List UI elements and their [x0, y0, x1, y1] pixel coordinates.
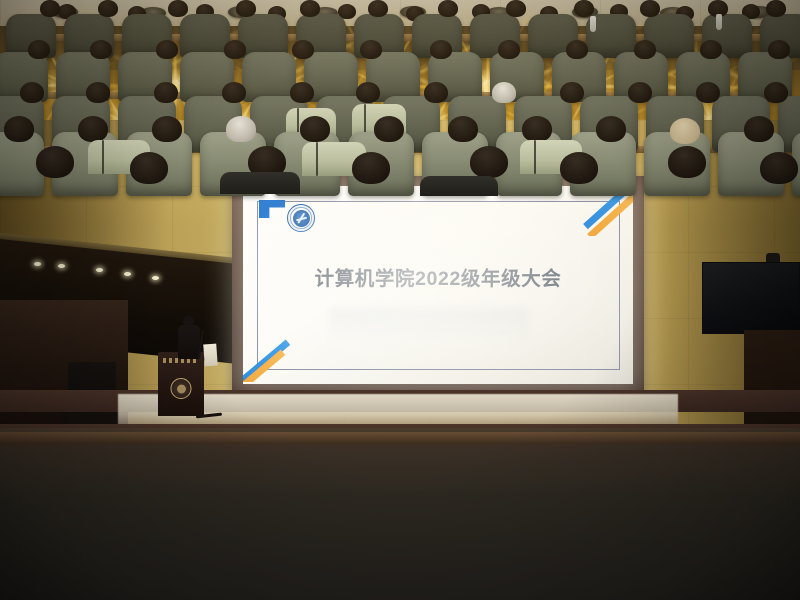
presenter-notes — [203, 344, 218, 367]
audience-member-head — [226, 116, 256, 142]
audience-member-head — [640, 0, 660, 17]
audience-member-head — [360, 40, 382, 59]
audience-member-head — [352, 152, 390, 184]
audience-member-head — [368, 0, 388, 17]
slide-light-artifact — [329, 308, 529, 342]
audience-member-head — [492, 82, 516, 103]
audience-member-head — [522, 116, 552, 142]
audience-member-head — [498, 40, 520, 59]
projected-slide: 计算机学院2022级年级大会 — [243, 186, 633, 384]
right-wall-shadow — [744, 330, 800, 438]
audience-member-head — [356, 82, 380, 103]
audience-member-head — [236, 0, 256, 17]
audience-member-head — [152, 116, 182, 142]
university-seal-logo-icon — [287, 204, 315, 232]
audience-member-head — [430, 40, 452, 59]
audience-member-head — [506, 0, 526, 17]
overhang-downlight-icon — [96, 268, 103, 272]
overhang-downlight-icon — [152, 276, 159, 280]
uniform-stripe — [102, 140, 104, 174]
audience-house — [0, 428, 800, 600]
audience-member-head — [130, 152, 168, 184]
seal-emblem — [293, 210, 310, 227]
audience-member-head — [628, 82, 652, 103]
audience-member-head — [566, 40, 588, 59]
audience-member-head — [560, 152, 598, 184]
lectern — [158, 352, 204, 416]
uniform-stripe — [316, 142, 318, 176]
presenter-body — [178, 325, 200, 359]
audience-member-head — [36, 146, 74, 178]
audience-member-head — [28, 40, 50, 59]
audience-member-head — [596, 116, 626, 142]
audience-member-head — [168, 0, 188, 17]
audience-member-head — [438, 0, 458, 17]
audience-member-head — [696, 82, 720, 103]
audience-member-torso — [420, 176, 498, 196]
diagonal-stripes-bottom-left-icon — [243, 336, 301, 382]
audience-member-head — [90, 40, 112, 59]
audience-member-torso — [220, 172, 300, 194]
audience-member-head — [300, 116, 330, 142]
audience-member-head — [300, 0, 320, 17]
audience-member-head — [744, 116, 774, 142]
audience-member-head — [374, 116, 404, 142]
auditorium-photo: 计算机学院2022级年级大会 — [0, 0, 800, 600]
audience-member-head — [560, 82, 584, 103]
audience-member-head — [292, 40, 314, 59]
audience-member-head — [98, 0, 118, 17]
uniform-stripe — [534, 140, 536, 174]
overhang-downlight-icon — [58, 264, 65, 268]
audience-member-head — [424, 82, 448, 103]
audience-member-head — [222, 82, 246, 103]
presenter-at-podium — [178, 316, 200, 358]
wall-mounted-display-icon — [702, 262, 800, 334]
audience-member-head — [768, 40, 790, 59]
audience-member-head — [86, 82, 110, 103]
audience-member-head — [20, 82, 44, 103]
audience-member-head — [700, 40, 722, 59]
audience-member-head — [224, 40, 246, 59]
overhang-downlight-icon — [124, 272, 131, 276]
audience-member-head — [470, 146, 508, 178]
audience-seat — [242, 52, 296, 102]
audience-member-head — [154, 82, 178, 103]
water-bottle — [716, 14, 722, 30]
audience-member-head — [290, 82, 314, 103]
audience-member-head — [670, 118, 700, 144]
overhang-downlight-icon — [34, 262, 41, 266]
audience-member-head — [156, 40, 178, 59]
audience-member-head — [40, 0, 60, 17]
audience-member-head — [574, 0, 594, 17]
front-rail — [0, 432, 800, 444]
slide-title: 计算机学院2022级年级大会 — [243, 262, 633, 291]
audience-member-head — [760, 152, 798, 184]
audience-member-head — [766, 0, 786, 17]
lectern-crest-icon — [171, 378, 192, 399]
audience-member-head — [764, 82, 788, 103]
audience-member-head — [634, 40, 656, 59]
audience-member-head — [4, 116, 34, 142]
audience-member-head — [668, 146, 706, 178]
diagonal-stripes-top-right-icon — [575, 190, 633, 236]
audience-member-head — [448, 116, 478, 142]
water-bottle — [590, 16, 596, 32]
audience-member-head — [78, 116, 108, 142]
